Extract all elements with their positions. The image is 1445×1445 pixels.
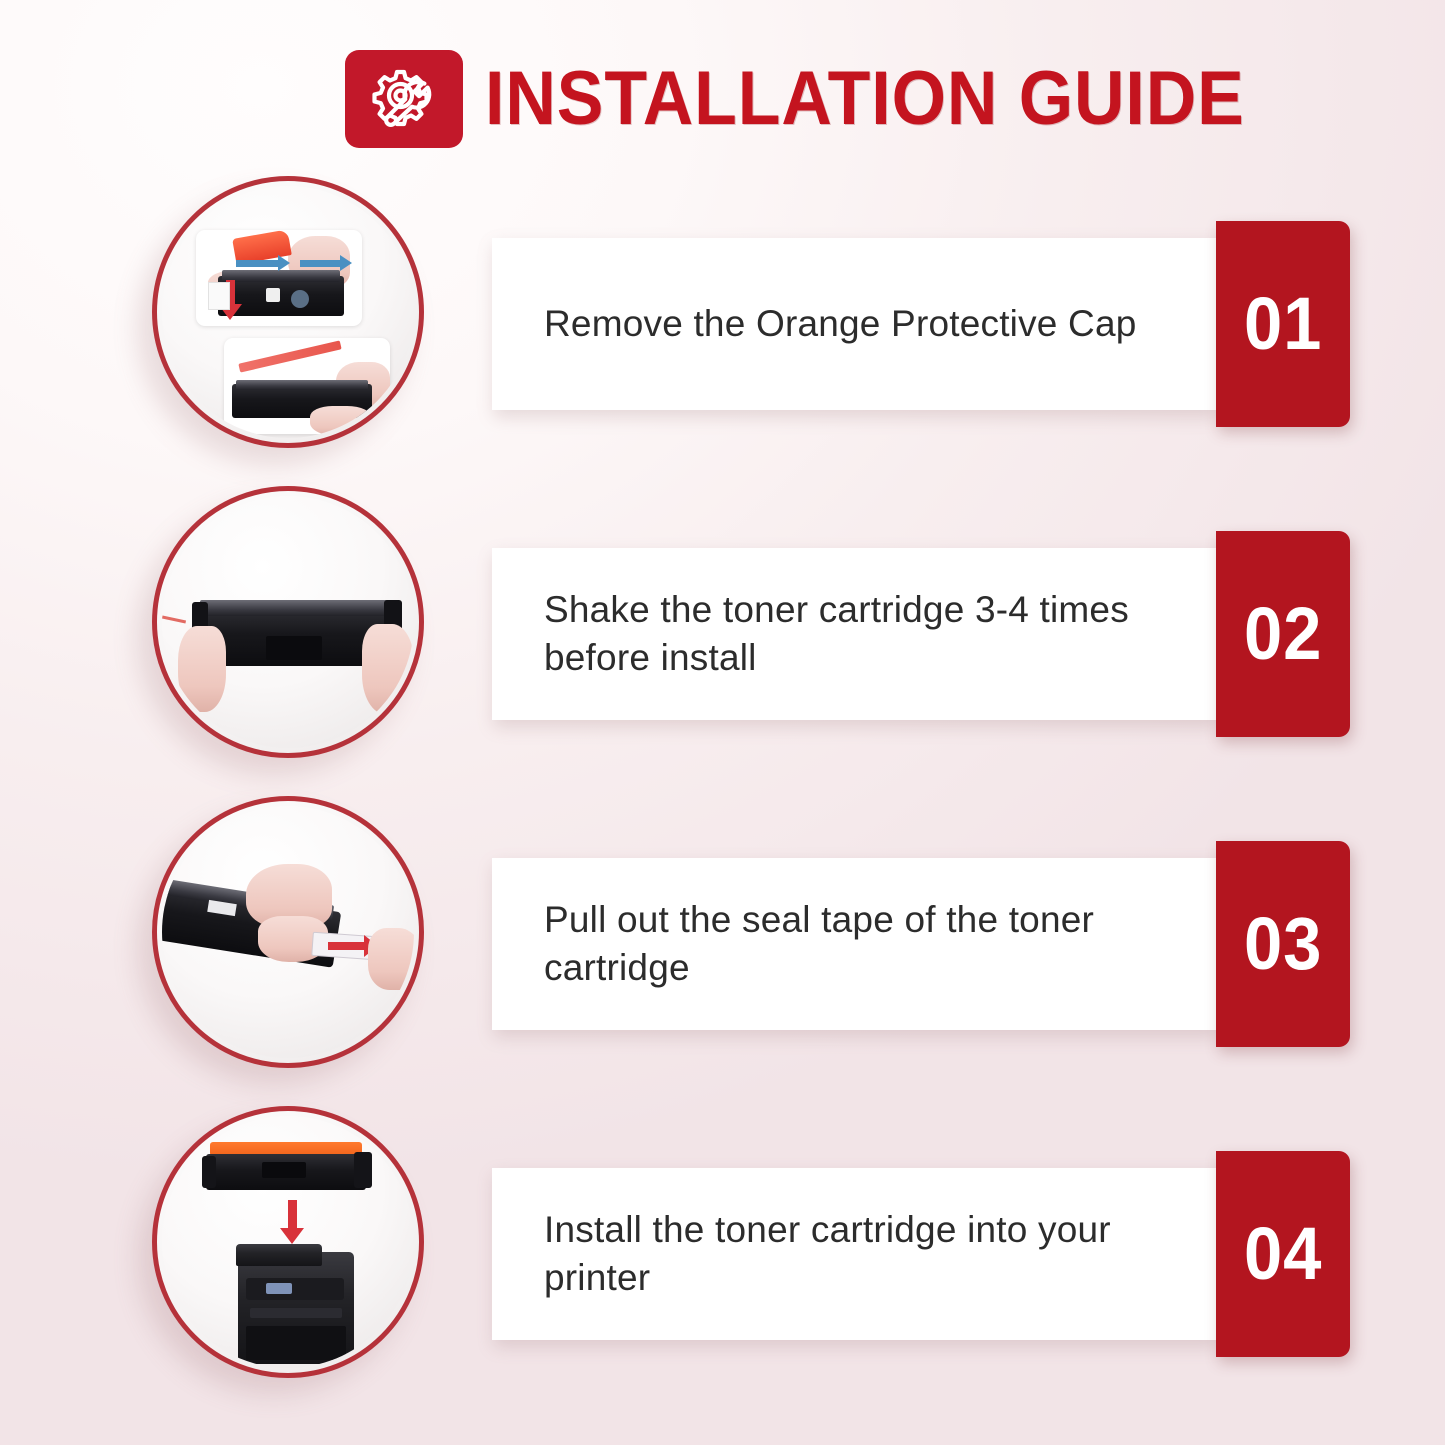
step-item: Install the toner cartridge into your pr… — [0, 1100, 1445, 1410]
step-card: Pull out the seal tape of the toner cart… — [492, 858, 1216, 1030]
cap-removal-panel — [196, 230, 362, 326]
steps-list: Remove the Orange Protective Cap 01 — [0, 170, 1445, 1410]
step-item: Pull out the seal tape of the toner cart… — [0, 790, 1445, 1100]
step-text: Pull out the seal tape of the toner cart… — [544, 896, 1182, 992]
step-number: 04 — [1244, 1217, 1322, 1291]
step-number-badge: 01 — [1216, 221, 1350, 427]
step-item: Remove the Orange Protective Cap 01 — [0, 170, 1445, 480]
step-number-badge: 03 — [1216, 841, 1350, 1047]
step-text: Remove the Orange Protective Cap — [544, 300, 1137, 348]
installation-guide-poster: INSTALLATION GUIDE — [0, 0, 1445, 1445]
gear-wrench-icon — [345, 50, 463, 148]
step-number: 01 — [1244, 287, 1322, 361]
step-card: Shake the toner cartridge 3-4 times befo… — [492, 548, 1216, 720]
install-into-printer-photo — [152, 1106, 424, 1378]
remove-orange-cap-photo — [152, 176, 424, 448]
step-number-badge: 04 — [1216, 1151, 1350, 1357]
step-card: Install the toner cartridge into your pr… — [492, 1168, 1216, 1340]
shake-cartridge-photo — [152, 486, 424, 758]
step-number: 03 — [1244, 907, 1322, 981]
step-item: Shake the toner cartridge 3-4 times befo… — [0, 480, 1445, 790]
pull-seal-tape-photo — [152, 796, 424, 1068]
step-number: 02 — [1244, 597, 1322, 671]
step-card: Remove the Orange Protective Cap — [492, 238, 1216, 410]
step-text: Install the toner cartridge into your pr… — [544, 1206, 1182, 1302]
page-title: INSTALLATION GUIDE — [485, 61, 1245, 137]
strip-pull-panel — [224, 338, 390, 434]
step-text: Shake the toner cartridge 3-4 times befo… — [544, 586, 1182, 682]
step-number-badge: 02 — [1216, 531, 1350, 737]
header: INSTALLATION GUIDE — [345, 50, 1311, 148]
